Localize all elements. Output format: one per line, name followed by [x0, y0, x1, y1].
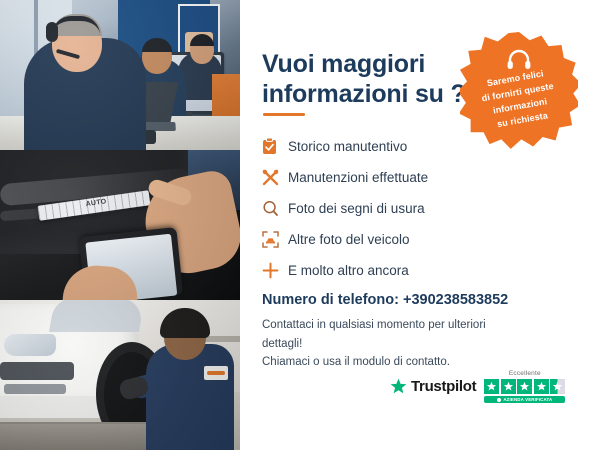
car-body-inspection-photo — [0, 150, 240, 300]
advertisement-banner: Vuoi maggioriinformazioni su ? Saremo fe… — [0, 0, 600, 450]
list-item: E molto altro ancora — [262, 256, 502, 284]
scan-car-icon — [262, 231, 288, 248]
list-item: Altre foto del veicolo — [262, 225, 502, 253]
photo-column — [0, 0, 240, 450]
trustpilot-wordmark: Trustpilot — [411, 378, 476, 395]
phone-label: Numero di telefono: — [262, 292, 403, 308]
star-rating — [484, 379, 565, 394]
list-item-label: Manutenzioni effettuate — [288, 170, 428, 185]
page-title: Vuoi maggioriinformazioni su ? — [262, 49, 492, 110]
mechanic-wheel-inspection-photo — [0, 300, 240, 450]
content-panel: Vuoi maggioriinformazioni su ? Saremo fe… — [240, 0, 600, 450]
star-half — [550, 379, 565, 394]
star-filled — [501, 379, 516, 394]
phone-line: Numero di telefono: +390238583852 — [262, 292, 508, 308]
plus-icon — [262, 262, 288, 279]
phone-number[interactable]: +390238583852 — [403, 292, 508, 308]
star-filled — [534, 379, 549, 394]
tools-cross-icon — [262, 169, 288, 186]
list-item-label: Foto dei segni di usura — [288, 201, 425, 216]
star-filled — [517, 379, 532, 394]
magnifier-icon — [262, 200, 288, 217]
list-item: Manutenzioni effettuate — [262, 163, 502, 191]
trustpilot-rating: Eccellente — [484, 370, 565, 403]
verified-check-icon — [497, 398, 501, 402]
rating-label: Eccellente — [509, 370, 541, 377]
verified-text: AZIENDA VERIFICATA — [503, 397, 552, 402]
feature-list: Storico manutentivo Manutenzioni effettu… — [262, 132, 502, 287]
contact-description: Contattaci in qualsiasi momento per ulte… — [262, 316, 512, 372]
trustpilot-widget[interactable]: Trustpilot Eccellente — [390, 370, 565, 403]
list-item-label: E molto altro ancora — [288, 263, 409, 278]
list-item: Foto dei segni di usura — [262, 194, 502, 222]
trustpilot-logo: Trustpilot — [390, 378, 476, 395]
verified-business-badge: AZIENDA VERIFICATA — [484, 396, 565, 403]
list-item: Storico manutentivo — [262, 132, 502, 160]
star-filled — [484, 379, 499, 394]
call-center-agents-photo — [0, 0, 240, 150]
list-item-label: Storico manutentivo — [288, 139, 407, 154]
title-underline-divider — [263, 113, 305, 116]
list-item-label: Altre foto del veicolo — [288, 232, 410, 247]
trustpilot-star-icon — [390, 378, 407, 395]
headset-icon — [506, 49, 532, 71]
contact-line-1: Contattaci in qualsiasi momento per ulte… — [262, 316, 512, 353]
clipboard-check-icon — [262, 138, 288, 155]
